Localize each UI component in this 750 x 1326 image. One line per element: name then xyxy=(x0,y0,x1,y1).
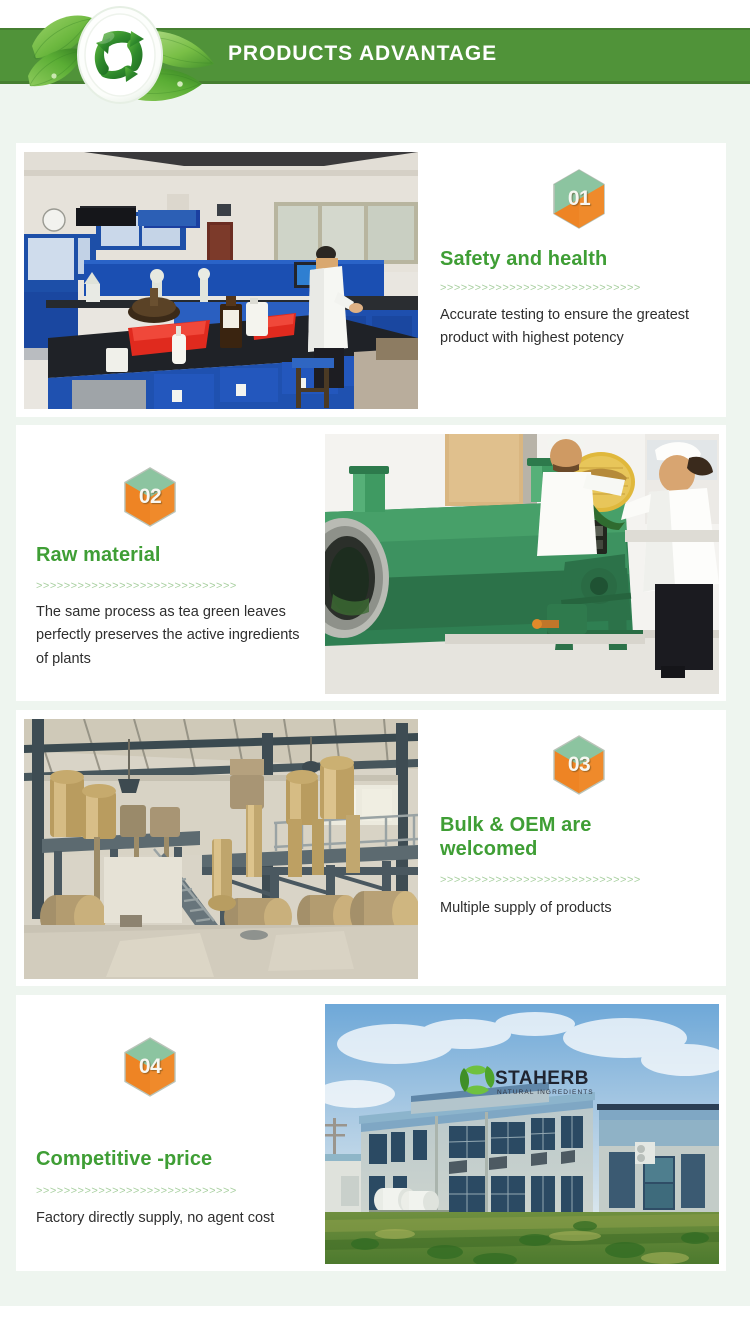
card-text-block: 01 Safety and health >>>>>>>>>>>>>>>>>>>… xyxy=(440,168,718,351)
card-text-block: 03 Bulk & OEM are welcomed >>>>>>>>>>>>>… xyxy=(440,734,718,921)
card-body-text: Accurate testing to ensure the greatest … xyxy=(440,304,708,351)
page-bottom-spacer xyxy=(0,1306,750,1326)
building-sign-title: STAHERB xyxy=(495,1068,589,1089)
laboratory-photo xyxy=(24,152,418,409)
card-heading: Raw material xyxy=(36,544,314,568)
chevron-divider: >>>>>>>>>>>>>>>>>>>>>>>>>>>>> xyxy=(36,581,288,592)
chevron-divider: >>>>>>>>>>>>>>>>>>>>>>>>>>>>> xyxy=(440,283,698,294)
building-sign-subtitle: NATURAL INGREDIENTS xyxy=(497,1089,594,1096)
card-heading: Competitive -price xyxy=(36,1148,326,1172)
factory-building-photo: STAHERB NATURAL INGREDIENTS xyxy=(325,1004,719,1264)
extraction-workshop-photo xyxy=(24,719,418,979)
card-text-block: 02 Raw material >>>>>>>>>>>>>>>>>>>>>>>>… xyxy=(36,466,314,671)
card-text-block: 04 Competitive -price >>>>>>>>>>>>>>>>>>… xyxy=(36,1036,326,1230)
roasting-machine-photo xyxy=(325,434,719,694)
page-header: PRODUCTS ADVANTAGE xyxy=(0,0,750,115)
page-title: PRODUCTS ADVANTAGE xyxy=(228,42,497,66)
card-heading: Safety and health xyxy=(440,248,718,272)
chevron-divider: >>>>>>>>>>>>>>>>>>>>>>>>>>>>> xyxy=(36,1186,288,1197)
chevron-divider: >>>>>>>>>>>>>>>>>>>>>>>>>>>>> xyxy=(440,875,690,886)
card-body-text: The same process as tea green leaves per… xyxy=(36,601,314,671)
step-badge: 03 xyxy=(551,734,607,796)
products-advantage-page: PRODUCTS ADVANTAGE xyxy=(0,0,750,1306)
card-body-text: Factory directly supply, no agent cost xyxy=(36,1207,286,1230)
step-badge: 04 xyxy=(122,1036,178,1098)
step-number: 01 xyxy=(551,168,607,230)
leaf-recycle-logo-icon xyxy=(18,2,228,112)
step-number: 04 xyxy=(122,1036,178,1098)
step-number: 03 xyxy=(551,734,607,796)
card-body-text: Multiple supply of products xyxy=(440,897,650,920)
card-heading: Bulk & OEM are welcomed xyxy=(440,814,670,861)
step-badge: 02 xyxy=(122,466,178,528)
step-number: 02 xyxy=(122,466,178,528)
step-badge: 01 xyxy=(551,168,607,230)
